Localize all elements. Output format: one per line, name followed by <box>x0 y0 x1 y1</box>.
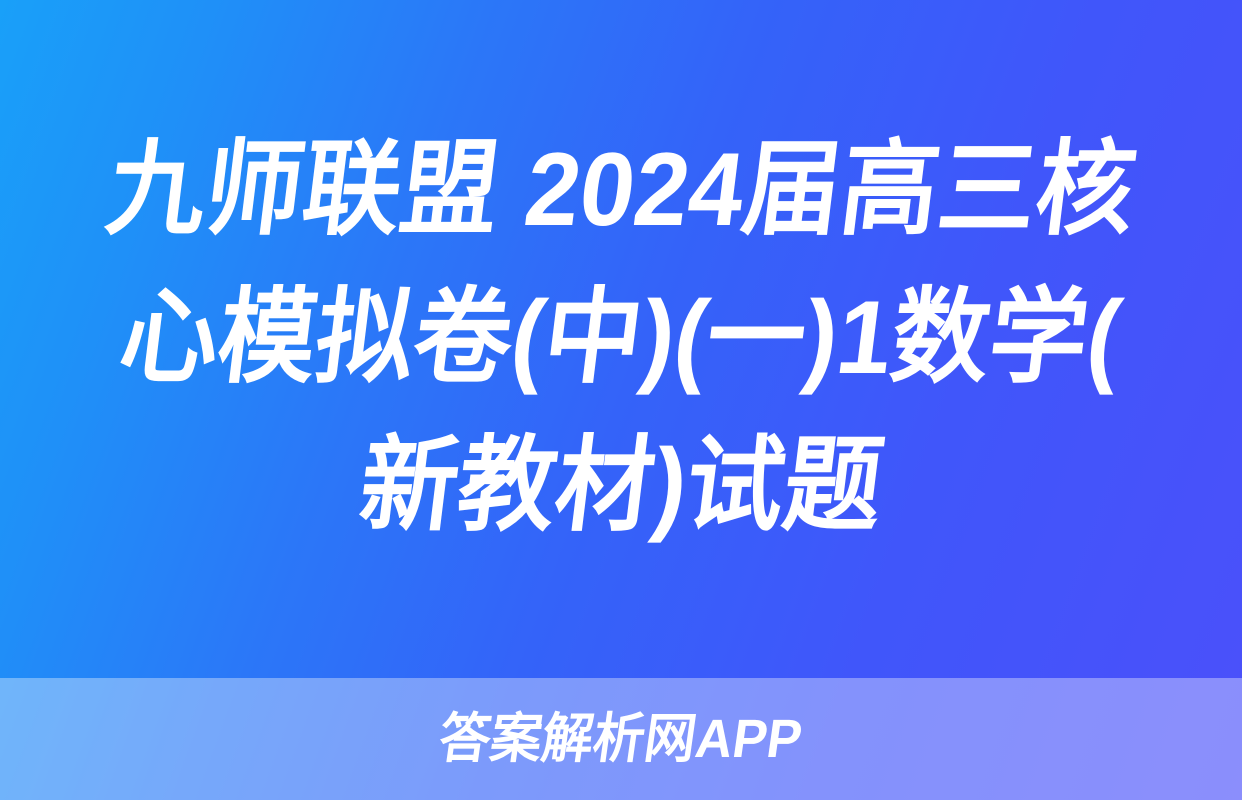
watermark-text: 答案解析网APP <box>436 712 806 766</box>
title-line-2: 心模拟卷(中)(一)1数学( <box>112 265 1129 413</box>
share-card: 九师联盟 2024届高三核 心模拟卷(中)(一)1数学( 新教材)试题 答案解析… <box>0 0 1242 800</box>
title-line-1: 九师联盟 2024届高三核 <box>99 117 1144 265</box>
footer-watermark-band: 答案解析网APP <box>0 678 1242 800</box>
title-line-3: 新教材)试题 <box>351 413 890 561</box>
title-block: 九师联盟 2024届高三核 心模拟卷(中)(一)1数学( 新教材)试题 <box>0 0 1242 678</box>
